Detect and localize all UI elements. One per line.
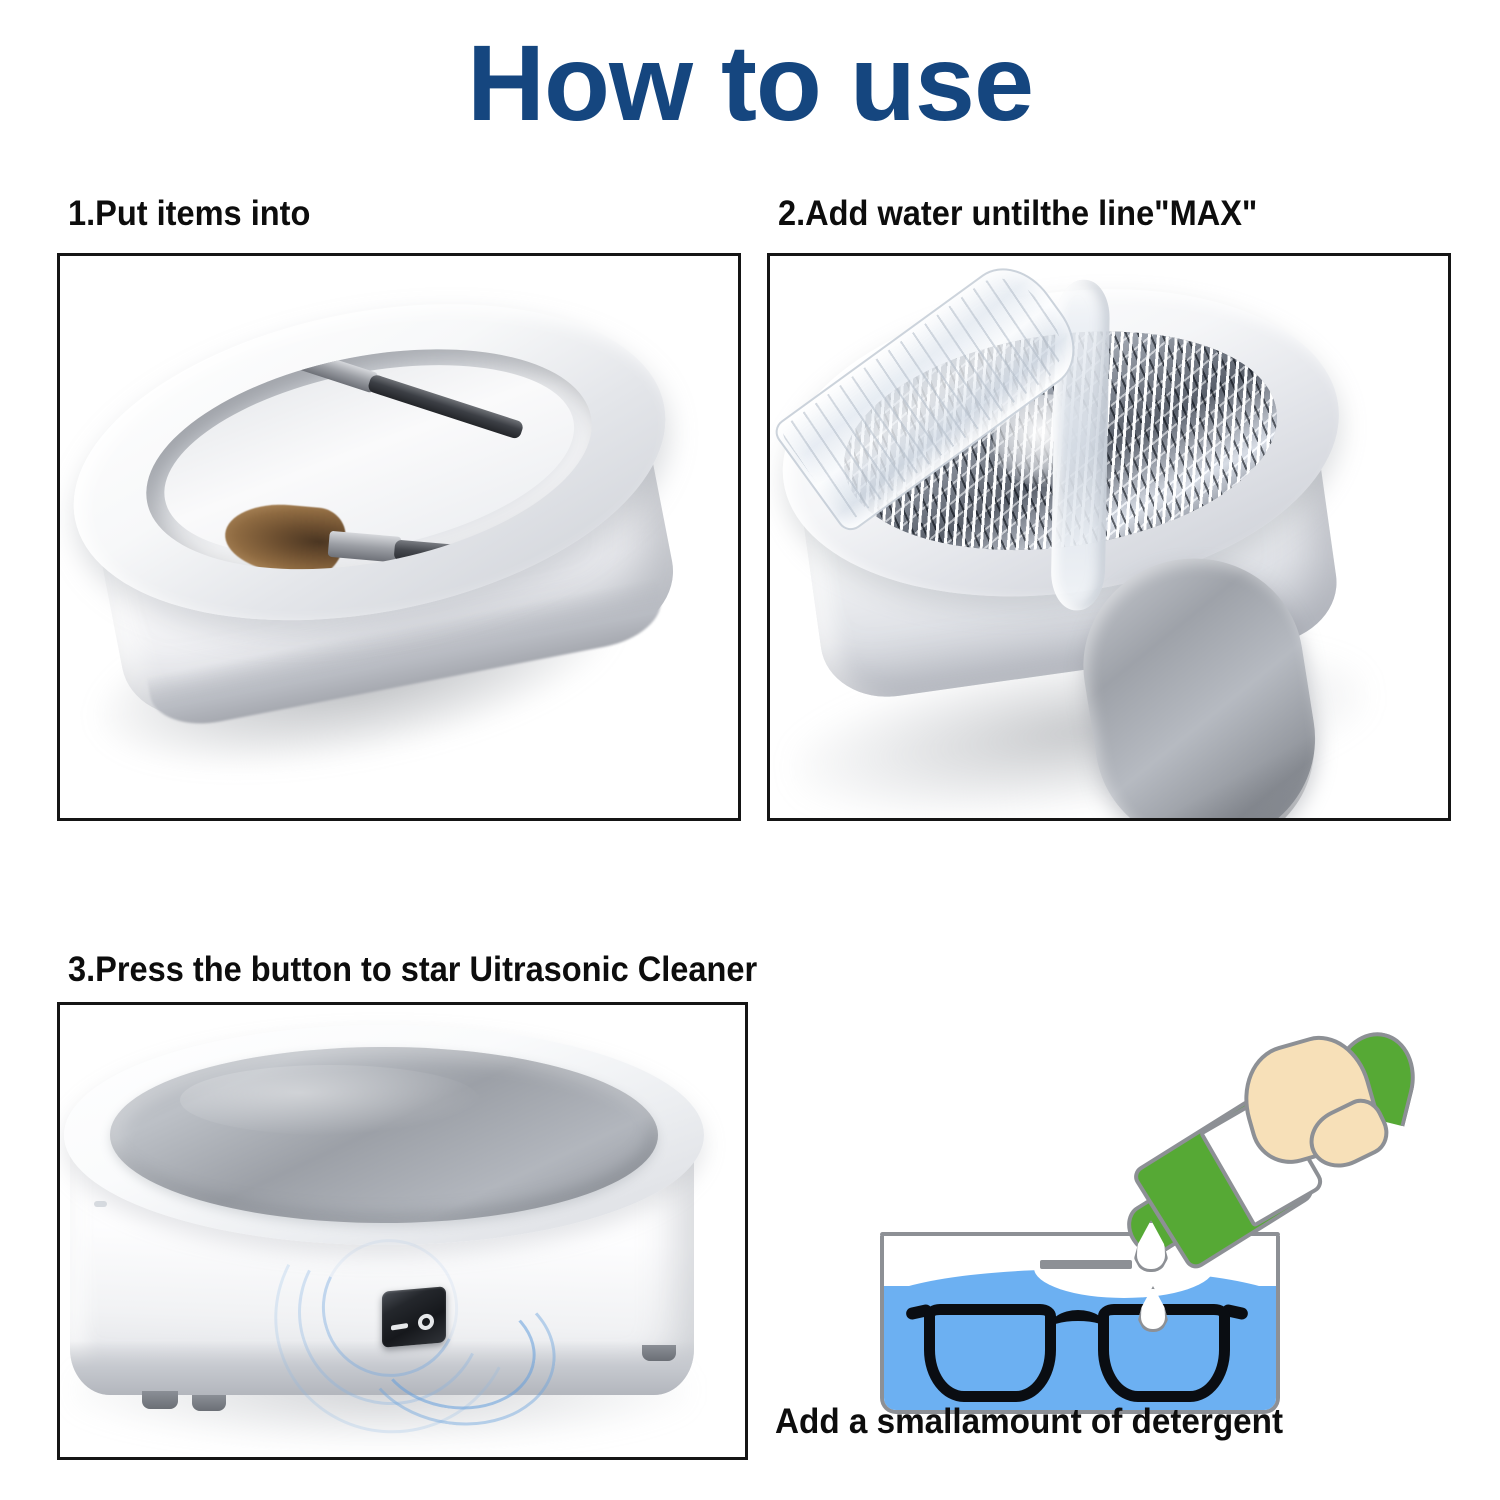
- indicator-light: [94, 1201, 107, 1207]
- ultrasonic-cleaner-icon: [57, 258, 718, 795]
- step-2-label: 2.Add water untilthe line"MAX": [778, 196, 1257, 231]
- ultrasonic-cleaner-icon: [64, 1025, 714, 1445]
- cleaner-foot: [642, 1345, 676, 1361]
- step-2-image-panel: [767, 253, 1451, 821]
- step-3-label: 3.Press the button to star Uitrasonic Cl…: [68, 952, 757, 987]
- brush-wooden-tip: [228, 322, 295, 371]
- step-3-image-panel: [57, 1002, 748, 1460]
- max-line-icon: [1040, 1260, 1132, 1269]
- page-title: How to use: [0, 24, 1500, 143]
- cleaner-running-illustration: [60, 1005, 745, 1457]
- hand-icon: [1224, 1030, 1414, 1220]
- detergent-caption: Add a smallamount of detergent: [775, 1404, 1283, 1439]
- pouring-water-illustration: [770, 256, 1448, 818]
- brush-ferrule: [281, 344, 379, 394]
- switch-on-mark: [418, 1313, 434, 1330]
- power-rocker-switch-icon[interactable]: [382, 1286, 446, 1348]
- detergent-illustration: [872, 1004, 1452, 1396]
- step-1-label: 1.Put items into: [68, 196, 310, 231]
- step-1-image-panel: [57, 253, 741, 821]
- glasses-lens-left: [924, 1304, 1056, 1402]
- eyeglasses-icon: [924, 1304, 1230, 1406]
- cleaner-foot: [192, 1395, 226, 1411]
- lid-highlight: [180, 1065, 480, 1135]
- cleaner-foot: [142, 1391, 178, 1409]
- cleaner-lid-icon: [110, 1047, 658, 1223]
- cleaner-lid-icon: [1068, 538, 1360, 821]
- cleaner-top-face: [64, 1025, 704, 1245]
- cleaner-with-brushes-illustration: [60, 256, 738, 818]
- switch-off-mark: [391, 1323, 408, 1331]
- cleaner-base-strip: [70, 1341, 694, 1395]
- lid-edge: [1072, 553, 1330, 821]
- cleaner-tank-cavity: [128, 315, 611, 603]
